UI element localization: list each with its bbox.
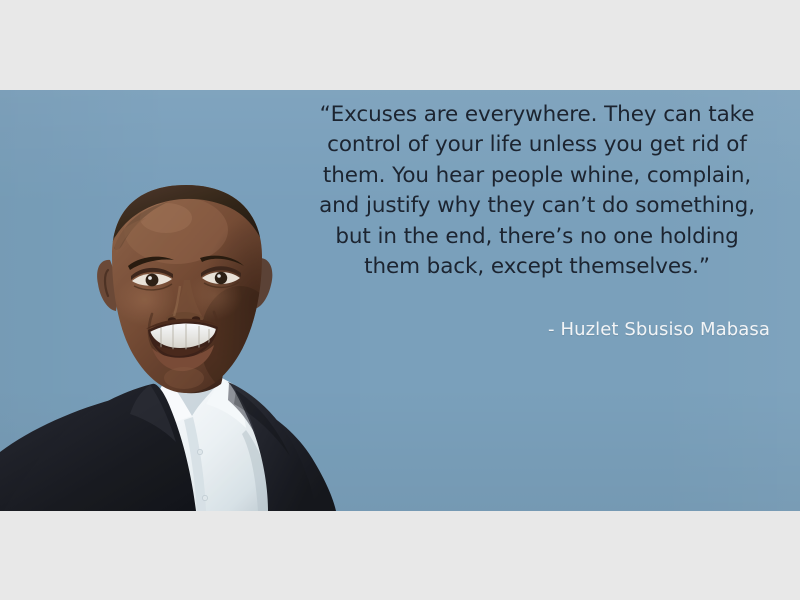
quote-attribution: - Huzlet Sbusiso Mabasa [288,318,770,342]
quote-panel: “Excuses are everywhere. They can take c… [0,90,800,511]
quote-line: but in the end, there’s no one holding [288,222,786,252]
quote-line: and justify why they can’t do something, [288,191,786,221]
quote-line: “Excuses are everywhere. They can take [288,100,786,130]
quote-graphic-canvas: “Excuses are everywhere. They can take c… [0,0,800,600]
quote-line: them back, except themselves.” [288,252,786,282]
quote-text: “Excuses are everywhere. They can take c… [288,100,786,282]
quote-line: control of your life unless you get rid … [288,130,786,160]
quote-line: them. You hear people whine, complain, [288,161,786,191]
